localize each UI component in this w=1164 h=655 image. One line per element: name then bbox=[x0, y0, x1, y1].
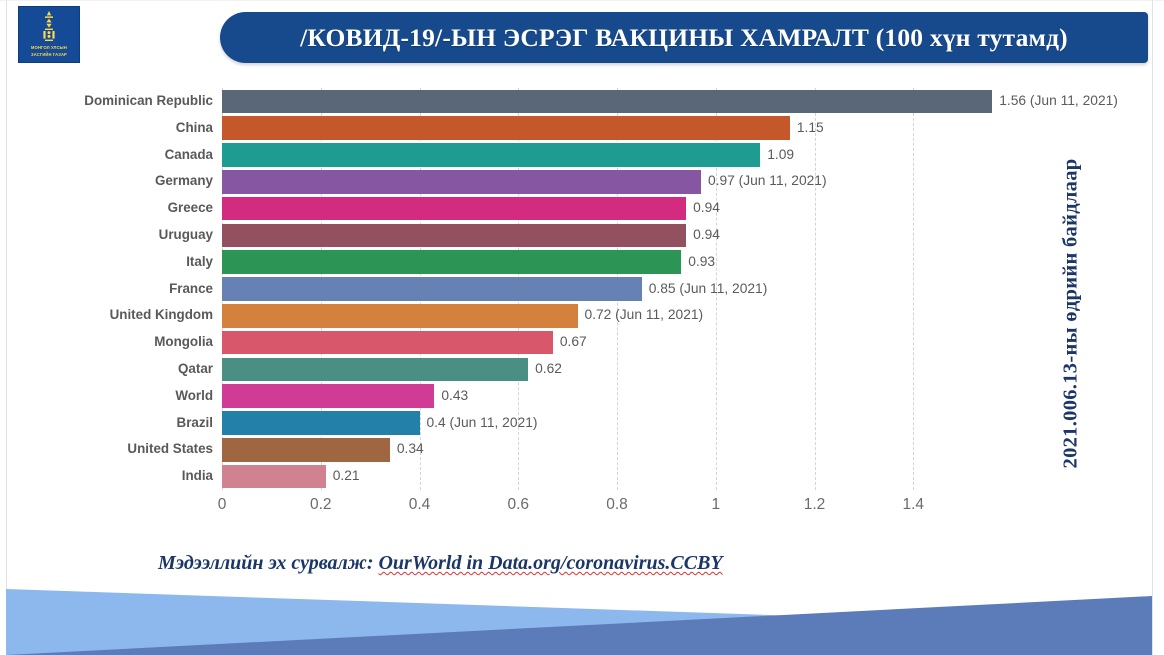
category-label: World bbox=[175, 383, 222, 410]
x-tick-label: 0.4 bbox=[409, 496, 431, 514]
slide-left-edge bbox=[6, 0, 7, 655]
as-of-date-text: 2021.006.13-ны өдрийн байдлаар bbox=[1060, 158, 1083, 468]
chart-plot-area: Dominican Republic1.56 (Jun 11, 2021)Chi… bbox=[222, 88, 1012, 490]
chart-row: Italy0.93 bbox=[222, 249, 1012, 276]
chart-row: Qatar0.62 bbox=[222, 356, 1012, 383]
mongolia-government-logo: МОНГОЛ УЛСЫН ЗАСГИЙН ГАЗАР bbox=[18, 6, 80, 63]
category-label: Canada bbox=[165, 142, 222, 169]
chart-row: United States0.34 bbox=[222, 436, 1012, 463]
bar-value-label: 1.15 bbox=[790, 115, 824, 142]
bar-value-label: 0.94 bbox=[686, 195, 720, 222]
bar-value-label: 0.4 (Jun 11, 2021) bbox=[420, 410, 538, 437]
category-label: Dominican Republic bbox=[84, 88, 222, 115]
category-label: India bbox=[182, 463, 222, 490]
bar-value-label: 0.72 (Jun 11, 2021) bbox=[578, 302, 704, 329]
x-tick-label: 0.2 bbox=[310, 496, 332, 514]
source-label: Мэдээллийн эх сурвалж: bbox=[158, 552, 378, 574]
x-tick-label: 0.8 bbox=[606, 496, 628, 514]
chart-row: Greece0.94 bbox=[222, 195, 1012, 222]
bar[interactable] bbox=[222, 438, 390, 462]
source-line: Мэдээллийн эх сурвалж: OurWorld in Data.… bbox=[158, 552, 723, 575]
category-label: Qatar bbox=[178, 356, 222, 383]
x-tick-label: 1.2 bbox=[804, 496, 826, 514]
category-label: France bbox=[169, 276, 222, 303]
category-label: Italy bbox=[186, 249, 222, 276]
bar-value-label: 0.85 (Jun 11, 2021) bbox=[642, 276, 768, 303]
bar[interactable] bbox=[222, 304, 578, 328]
bar-value-label: 0.43 bbox=[434, 383, 468, 410]
x-axis-ticks: 00.20.40.60.811.21.4 bbox=[222, 496, 1012, 526]
slide-footer-decoration bbox=[0, 580, 1164, 655]
chart-row: United Kingdom0.72 (Jun 11, 2021) bbox=[222, 302, 1012, 329]
presentation-slide: МОНГОЛ УЛСЫН ЗАСГИЙН ГАЗАР /КОВИД-19/-ЫН… bbox=[0, 0, 1164, 655]
chart-row: India0.21 bbox=[222, 463, 1012, 490]
category-label: Brazil bbox=[177, 410, 222, 437]
category-label: Mongolia bbox=[154, 329, 222, 356]
slide-right-edge bbox=[1152, 0, 1153, 655]
slide-title-banner: /КОВИД-19/-ЫН ЭСРЭГ ВАКЦИНЫ ХАМРАЛТ (100… bbox=[220, 12, 1148, 63]
bar[interactable] bbox=[222, 384, 434, 408]
x-tick-label: 0 bbox=[218, 496, 227, 514]
bar[interactable] bbox=[222, 358, 528, 382]
bar-value-label: 0.34 bbox=[390, 436, 424, 463]
bar[interactable] bbox=[222, 465, 326, 489]
as-of-date-note: 2021.006.13-ны өдрийн байдлаар bbox=[1056, 128, 1086, 498]
chart-row: Germany0.97 (Jun 11, 2021) bbox=[222, 168, 1012, 195]
source-link[interactable]: OurWorld in Data.org/coronavirus.CCBY bbox=[378, 552, 722, 574]
chart-row: China1.15 bbox=[222, 115, 1012, 142]
bar-value-label: 0.62 bbox=[528, 356, 562, 383]
category-label: United Kingdom bbox=[110, 302, 222, 329]
chart-row: France0.85 (Jun 11, 2021) bbox=[222, 276, 1012, 303]
category-label: China bbox=[176, 115, 222, 142]
category-label: Greece bbox=[168, 195, 222, 222]
soyombo-icon bbox=[39, 11, 59, 43]
slide-top-edge bbox=[0, 0, 1164, 1]
bar-value-label: 1.56 (Jun 11, 2021) bbox=[992, 88, 1118, 115]
bar[interactable] bbox=[222, 277, 642, 301]
category-label: Uruguay bbox=[159, 222, 222, 249]
bar-value-label: 0.67 bbox=[553, 329, 587, 356]
bar[interactable] bbox=[222, 197, 686, 221]
bar[interactable] bbox=[222, 116, 790, 140]
bar[interactable] bbox=[222, 331, 553, 355]
chart-row: Brazil0.4 (Jun 11, 2021) bbox=[222, 410, 1012, 437]
chart-row: Dominican Republic1.56 (Jun 11, 2021) bbox=[222, 88, 1012, 115]
x-tick-label: 0.6 bbox=[507, 496, 529, 514]
category-label: Germany bbox=[155, 168, 222, 195]
x-tick-label: 1.4 bbox=[902, 496, 924, 514]
page-title: /КОВИД-19/-ЫН ЭСРЭГ ВАКЦИНЫ ХАМРАЛТ (100… bbox=[300, 23, 1068, 53]
bar[interactable] bbox=[222, 170, 701, 194]
bar-value-label: 0.94 bbox=[686, 222, 720, 249]
bar[interactable] bbox=[222, 90, 992, 114]
bar[interactable] bbox=[222, 411, 420, 435]
chart-row: Mongolia0.67 bbox=[222, 329, 1012, 356]
bar-value-label: 1.09 bbox=[760, 142, 794, 169]
chart-row: Canada1.09 bbox=[222, 142, 1012, 169]
bar-value-label: 0.97 (Jun 11, 2021) bbox=[701, 168, 827, 195]
bar-value-label: 0.93 bbox=[681, 249, 715, 276]
bar[interactable] bbox=[222, 224, 686, 248]
category-label: United States bbox=[127, 436, 222, 463]
bar-chart: Dominican Republic1.56 (Jun 11, 2021)Chi… bbox=[56, 84, 1056, 524]
bar[interactable] bbox=[222, 143, 760, 167]
logo-text-line2: ЗАСГИЙН ГАЗАР bbox=[31, 52, 67, 57]
chart-row: Uruguay0.94 bbox=[222, 222, 1012, 249]
bar-value-label: 0.21 bbox=[326, 463, 360, 490]
chart-row: World0.43 bbox=[222, 383, 1012, 410]
bar[interactable] bbox=[222, 250, 681, 274]
x-tick-label: 1 bbox=[711, 496, 720, 514]
logo-text-line1: МОНГОЛ УЛСЫН bbox=[31, 45, 67, 50]
